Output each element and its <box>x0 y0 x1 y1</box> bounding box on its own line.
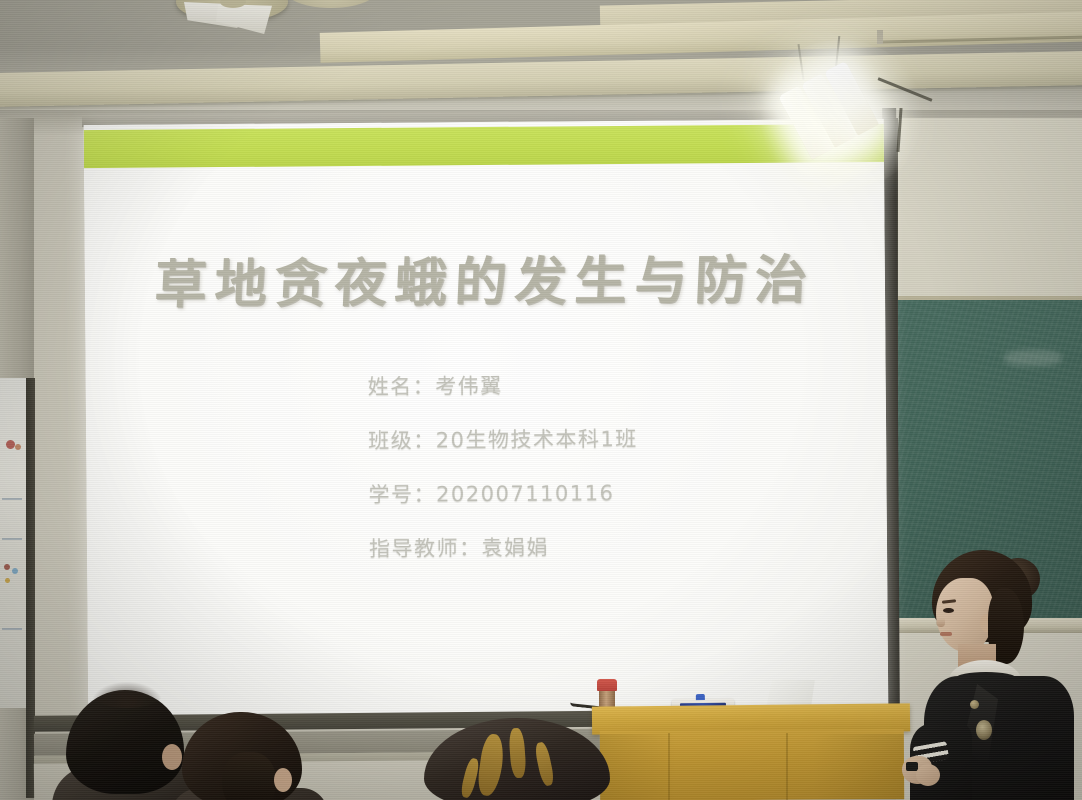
podium-shading <box>600 734 904 800</box>
podium-panel-seam <box>786 733 788 800</box>
presenter-brooch <box>976 720 992 740</box>
podium-panel-seam <box>668 733 670 800</box>
presenter-eye <box>943 608 954 613</box>
audience-1-hair-wisp <box>92 682 162 708</box>
slide-content: 草地贪夜蛾的发生与防治 姓名：考伟翼 班级：20生物技术本科1班 学号：2020… <box>84 119 889 717</box>
poster-line <box>2 628 22 630</box>
poster-line <box>2 538 22 540</box>
poster-graphic-dot <box>6 440 15 449</box>
projection-screen[interactable]: 草地贪夜蛾的发生与防治 姓名：考伟翼 班级：20生物技术本科1班 学号：2020… <box>84 119 889 717</box>
fan-blade <box>216 4 272 34</box>
audience-member-3 <box>424 718 610 800</box>
thermos-cap <box>597 679 617 691</box>
poster-graphic-dot <box>12 568 18 574</box>
slide-line-student-id: 学号：202007110116 <box>368 477 638 509</box>
audience-member-2 <box>170 712 320 800</box>
classroom-photo-scene: 草地贪夜蛾的发生与防治 姓名：考伟翼 班级：20生物技术本科1班 学号：2020… <box>0 0 1082 800</box>
chalk-smudge <box>1004 350 1062 366</box>
presenter-nose <box>936 618 945 627</box>
ceiling-mount-bracket <box>877 30 883 44</box>
poster-graphic-dot <box>15 444 21 450</box>
slide-line-name: 姓名：考伟翼 <box>368 369 638 401</box>
presenter-hand <box>916 764 940 786</box>
slide-line-advisor: 指导教师：袁娟娟 <box>369 531 639 563</box>
poster-graphic-dot <box>5 578 10 583</box>
slide-line-class: 班级：20生物技术本科1班 <box>368 423 638 455</box>
left-wall-poster <box>0 378 26 708</box>
presenter <box>900 548 1082 800</box>
wall-above-blackboard <box>896 118 1082 300</box>
presenter-mouth <box>940 632 952 636</box>
audience-2-ponytail <box>222 752 276 800</box>
poster-graphic-dot <box>4 564 10 570</box>
audience-2-ear <box>274 768 292 792</box>
poster-line <box>2 498 22 500</box>
presenter-jacket-button <box>970 700 979 709</box>
device-knob[interactable] <box>696 694 705 700</box>
ceiling-fan-icon <box>176 0 288 38</box>
slide-title: 草地贪夜蛾的发生与防治 <box>84 237 887 318</box>
slide-info-list: 姓名：考伟翼 班级：20生物技术本科1班 学号：202007110116 指导教… <box>368 369 639 563</box>
